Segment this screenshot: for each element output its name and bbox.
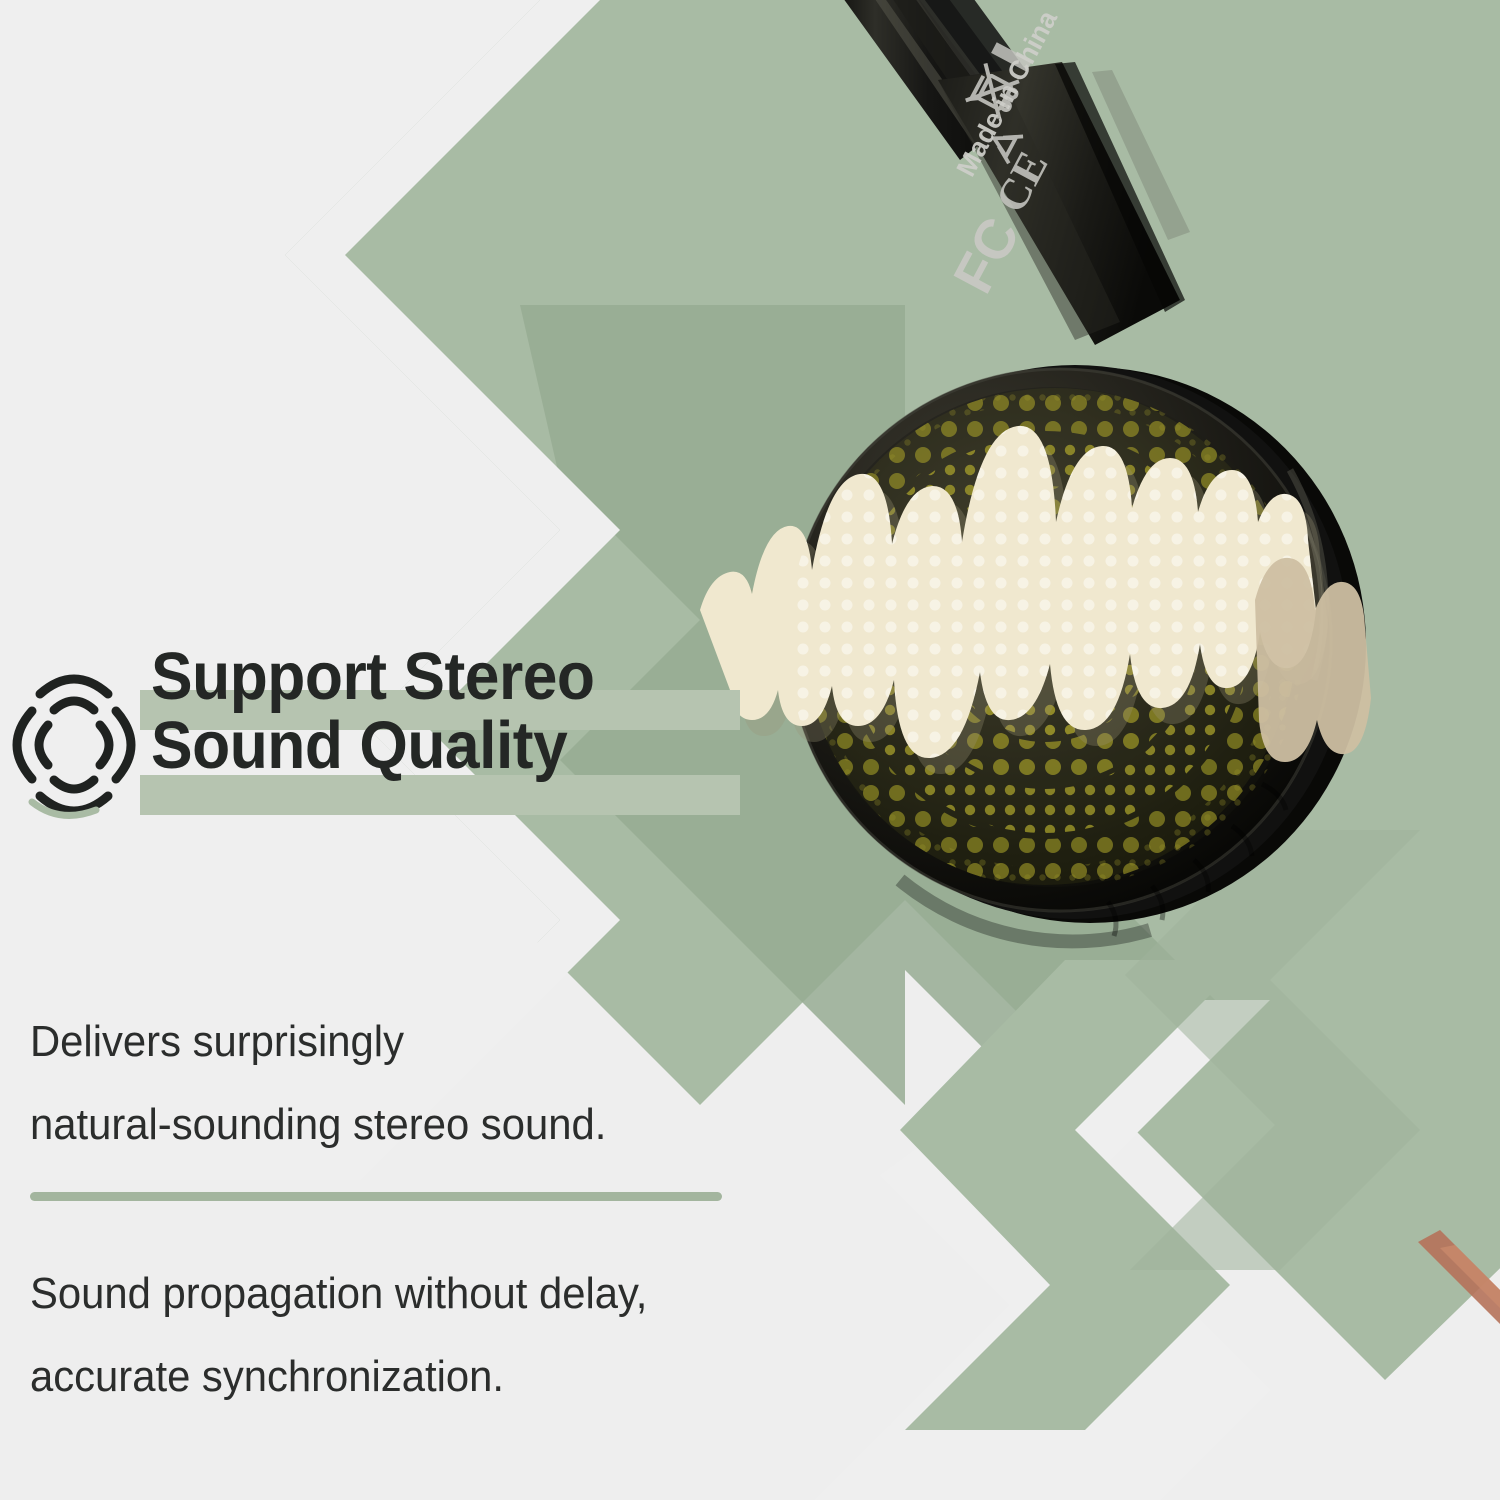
section-divider bbox=[30, 1192, 722, 1201]
sound-wave-radiating-icon bbox=[10, 670, 138, 820]
feature-description-1: Delivers surprisingly natural-sounding s… bbox=[30, 1000, 790, 1166]
feature-description-2: Sound propagation without delay, accurat… bbox=[30, 1252, 847, 1418]
page-title: Support Stereo Sound Quality bbox=[151, 642, 718, 780]
product-feature-banner: FC CE bbox=[0, 0, 1500, 1500]
